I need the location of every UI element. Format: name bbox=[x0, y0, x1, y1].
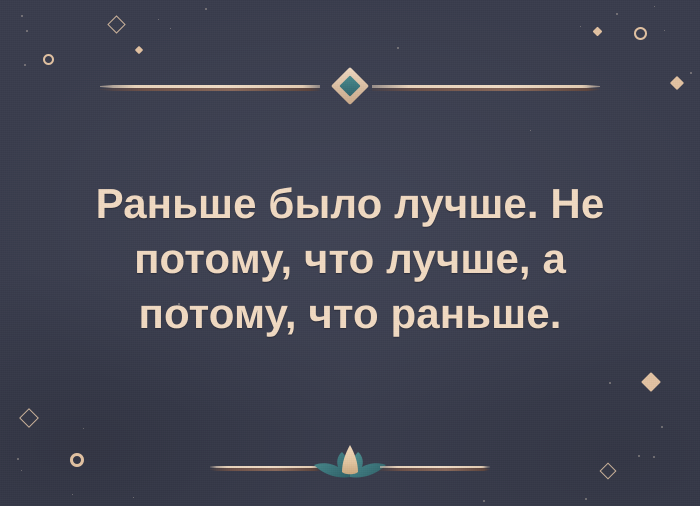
speck-dot bbox=[158, 19, 159, 20]
ring-icon bbox=[70, 453, 84, 467]
speck-dot bbox=[21, 15, 23, 17]
speck-dot bbox=[654, 6, 655, 7]
speck-dot bbox=[21, 470, 22, 471]
diamond-fill-icon bbox=[135, 46, 143, 54]
quote-line-3: потому, что раньше. bbox=[0, 286, 700, 341]
speck-dot bbox=[653, 456, 655, 458]
quote-line-1: Раньше было лучше. Не bbox=[0, 176, 700, 231]
top-left-rule bbox=[100, 85, 320, 91]
speck-dot bbox=[664, 30, 665, 31]
speck-dot bbox=[170, 28, 171, 29]
speck-dot bbox=[530, 130, 531, 131]
speck-dot bbox=[690, 72, 692, 74]
speck-dot bbox=[397, 47, 399, 49]
rule-highlight bbox=[100, 85, 320, 88]
lotus-icon bbox=[298, 441, 402, 485]
speck-dot bbox=[133, 497, 134, 498]
speck-dot bbox=[638, 455, 640, 457]
ring-icon bbox=[43, 54, 54, 65]
diamond-outline-icon bbox=[19, 408, 39, 428]
quote-text: Раньше было лучше. Не потому, что лучше,… bbox=[0, 176, 700, 341]
speck-dot bbox=[205, 8, 207, 10]
speck-dot bbox=[609, 382, 611, 384]
quote-line-2: потому, что лучше, а bbox=[0, 231, 700, 286]
speck-dot bbox=[483, 500, 485, 502]
rule-highlight bbox=[380, 466, 490, 468]
speck-dot bbox=[17, 458, 19, 460]
diamond-icon bbox=[330, 64, 370, 108]
speck-dot bbox=[26, 30, 28, 32]
rule-shadow bbox=[380, 468, 490, 471]
speck-dot bbox=[72, 494, 73, 495]
speck-dot bbox=[661, 426, 663, 428]
rule-highlight bbox=[372, 85, 600, 88]
diamond-outline-icon bbox=[107, 15, 125, 33]
speck-dot bbox=[616, 13, 618, 15]
speck-dot bbox=[585, 498, 587, 500]
ring-icon bbox=[634, 27, 647, 40]
diamond-outline-icon bbox=[600, 463, 617, 480]
quote-card: Раньше было лучше. Не потому, что лучше,… bbox=[0, 0, 700, 506]
rule-shadow bbox=[372, 88, 600, 91]
lotus-svg bbox=[298, 441, 402, 485]
diamond-fill-icon bbox=[593, 27, 603, 37]
diamond-fill-icon bbox=[670, 76, 684, 90]
speck-dot bbox=[580, 26, 581, 27]
diamond-fill-icon bbox=[641, 372, 661, 392]
speck-dot bbox=[24, 64, 26, 66]
rule-shadow bbox=[100, 88, 320, 91]
speck-dot bbox=[83, 428, 84, 429]
bottom-right-rule bbox=[380, 466, 490, 471]
top-right-rule bbox=[372, 85, 600, 91]
